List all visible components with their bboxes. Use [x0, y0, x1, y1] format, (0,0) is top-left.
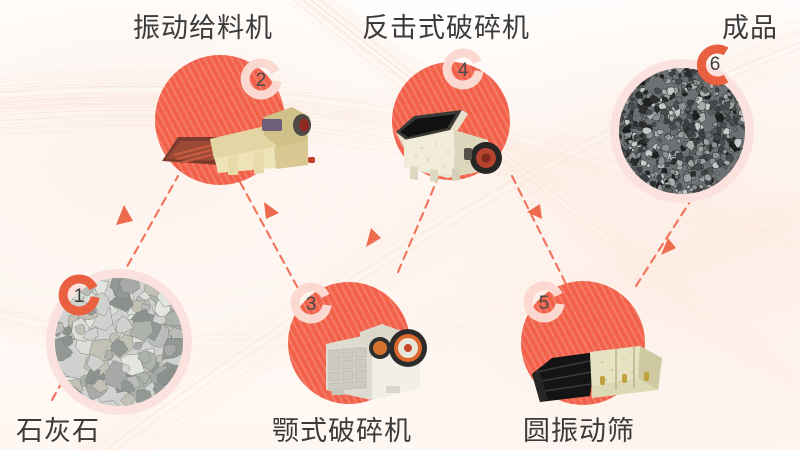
arrowhead-4-to-5 — [527, 204, 542, 219]
impact-crusher-machine — [392, 96, 508, 182]
step-label-3: 颚式破碎机 — [272, 409, 412, 448]
step-badge-2: 2 — [238, 58, 284, 104]
step-badge-5: 5 — [521, 281, 567, 327]
arrowhead-5-to-6 — [661, 238, 676, 255]
step-label-2: 振动给料机 — [133, 6, 273, 45]
flow-arrow-5-to-6 — [636, 186, 700, 286]
circular-vibrating-screen-machine — [528, 336, 668, 412]
step-badge-4: 4 — [440, 48, 486, 94]
flow-arrow-3-to-4 — [398, 178, 438, 272]
arrowhead-3-to-4 — [366, 228, 381, 247]
step-label-6: 成品 — [722, 6, 778, 45]
step-badge-3: 3 — [288, 282, 334, 328]
step-number-2: 2 — [238, 58, 284, 104]
step-number-6: 6 — [692, 42, 738, 88]
arrowhead-1-to-2 — [116, 205, 133, 225]
step-number-4: 4 — [440, 48, 486, 94]
jaw-crusher-machine — [320, 322, 438, 406]
step-badge-6: 6 — [692, 42, 738, 88]
process-flow-diagram: 1 石灰石 — [0, 0, 800, 450]
step-label-1: 石灰石 — [16, 409, 100, 448]
flow-arrow-2-to-3 — [240, 182, 300, 292]
step-number-3: 3 — [288, 282, 334, 328]
vibrating-feeder-machine — [158, 95, 318, 185]
step-number-1: 1 — [56, 274, 102, 320]
step-label-5: 圆振动筛 — [523, 409, 635, 448]
step-label-4: 反击式破碎机 — [362, 6, 530, 45]
step-number-5: 5 — [521, 281, 567, 327]
step-badge-1: 1 — [56, 274, 102, 320]
arrowhead-2-to-3 — [264, 202, 279, 219]
